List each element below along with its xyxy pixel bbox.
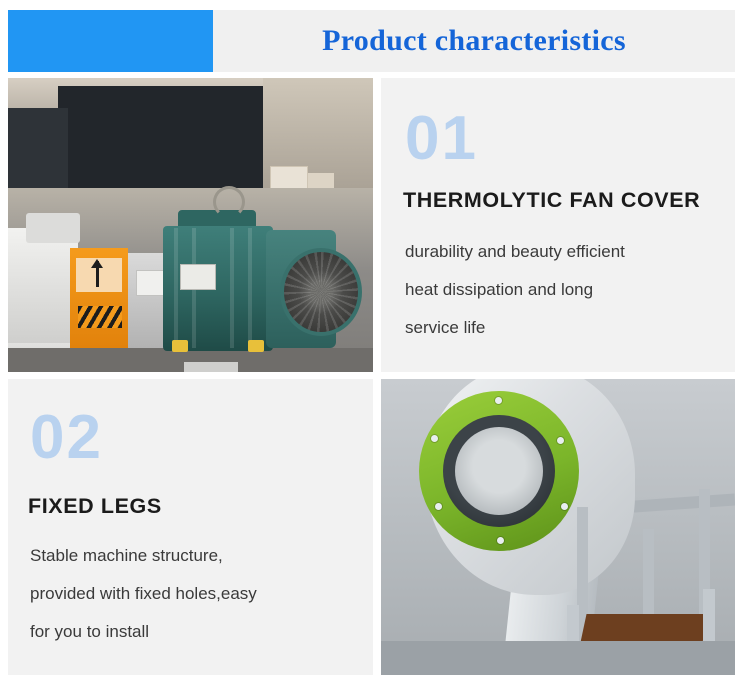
- feature-01-heading: THERMOLYTIC FAN COVER: [403, 188, 733, 213]
- photo1-motor-foot: [172, 340, 188, 352]
- feature-02-body-line: Stable machine structure,: [30, 537, 360, 575]
- photo2-inlet-opening: [443, 415, 555, 527]
- page-header: Product characteristics: [8, 10, 735, 72]
- photo1-back-wall-left: [8, 108, 68, 193]
- photo1-gearbox-plate: [136, 270, 164, 296]
- photo1-lifting-hook: [213, 186, 245, 218]
- photo2-impeller: [455, 427, 543, 515]
- feature-01-body-line: service life: [405, 309, 723, 347]
- header-accent-block: [8, 10, 213, 72]
- photo2-bolt: [557, 437, 564, 444]
- photo2-bolt: [497, 537, 504, 544]
- feature-row-02: 02 FIXED LEGS Stable machine structure, …: [8, 379, 735, 675]
- feature-01-text-panel: 01 THERMOLYTIC FAN COVER durability and …: [381, 78, 735, 372]
- photo2-bolt: [431, 435, 438, 442]
- feature-02-text-panel: 02 FIXED LEGS Stable machine structure, …: [8, 379, 373, 675]
- photo1-motor-rib: [174, 228, 178, 348]
- feature-02-photo: [381, 379, 735, 675]
- product-characteristics-page: Product characteristics: [0, 0, 743, 683]
- photo2-bolt: [435, 503, 442, 510]
- photo1-motor-foot: [248, 340, 264, 352]
- photo1-fan-grill: [280, 248, 362, 336]
- feature-02-body-line: provided with fixed holes,easy: [30, 575, 360, 613]
- feature-01-body-line: heat dissipation and long: [405, 271, 723, 309]
- photo1-fan-grill-vanes: [284, 252, 358, 332]
- feature-01-body: durability and beauty efficient heat dis…: [405, 233, 723, 347]
- photo1-gearbox: [128, 253, 168, 348]
- photo2-bolt: [495, 397, 502, 404]
- feature-02-body-line: for you to install: [30, 613, 360, 651]
- photo2-base-bar: [703, 589, 715, 647]
- feature-02-body: Stable machine structure, provided with …: [30, 537, 360, 651]
- photo1-arrow-icon: [96, 261, 99, 287]
- photo1-hazard-stripe: [78, 306, 122, 328]
- photo1-machine-body: [8, 228, 78, 343]
- feature-02-number: 02: [30, 407, 103, 469]
- feature-row-01: 01 THERMOLYTIC FAN COVER durability and …: [8, 78, 735, 372]
- photo1-back-wall: [58, 86, 263, 191]
- photo1-motor-rib: [248, 228, 252, 348]
- photo2-bolt: [561, 503, 568, 510]
- page-title: Product characteristics: [213, 10, 735, 72]
- feature-02-heading: FIXED LEGS: [28, 494, 162, 519]
- feature-01-body-line: durability and beauty efficient: [405, 233, 723, 271]
- photo1-motor-rib: [230, 228, 234, 348]
- photo1-mount-bracket: [184, 362, 238, 372]
- photo2-floor: [381, 641, 735, 675]
- feature-01-number: 01: [405, 108, 478, 170]
- photo1-pipe: [26, 213, 80, 243]
- feature-01-photo: [8, 78, 373, 372]
- photo1-motor-nameplate: [180, 264, 216, 290]
- photo2-green-inlet-ring: [419, 391, 579, 551]
